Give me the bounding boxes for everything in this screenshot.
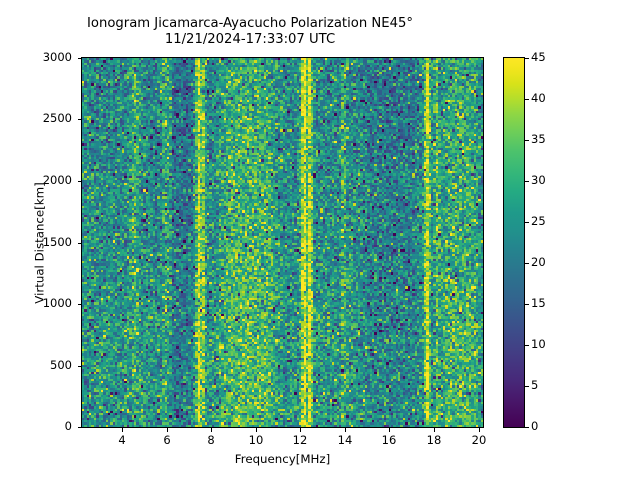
y-tick-mark bbox=[78, 243, 82, 244]
page-title: Ionogram Jicamarca-Ayacucho Polarization… bbox=[0, 16, 500, 48]
colorbar-tick-label-10: 10 bbox=[531, 337, 546, 351]
colorbar-tick-mark bbox=[525, 263, 529, 264]
x-tick-label-16: 16 bbox=[369, 433, 409, 447]
x-tick-label-18: 18 bbox=[414, 433, 454, 447]
colorbar-tick-mark bbox=[525, 181, 529, 182]
x-tick-mark bbox=[167, 428, 168, 432]
y-tick-mark bbox=[78, 181, 82, 182]
colorbar-tick-mark bbox=[525, 345, 529, 346]
colorbar-tick-mark bbox=[525, 427, 529, 428]
x-tick-label-20: 20 bbox=[459, 433, 499, 447]
x-tick-label-14: 14 bbox=[325, 433, 365, 447]
colorbar-tick-label-40: 40 bbox=[531, 91, 546, 105]
colorbar-tick-mark bbox=[525, 99, 529, 100]
x-tick-mark bbox=[256, 428, 257, 432]
x-tick-label-6: 6 bbox=[147, 433, 187, 447]
x-tick-label-4: 4 bbox=[102, 433, 142, 447]
colorbar-tick-label-0: 0 bbox=[531, 419, 538, 433]
colorbar-tick-mark bbox=[525, 140, 529, 141]
x-tick-mark bbox=[122, 428, 123, 432]
y-tick-mark bbox=[78, 304, 82, 305]
ionogram-heatmap bbox=[82, 58, 483, 427]
colorbar-tick-mark bbox=[525, 222, 529, 223]
colorbar-tick-label-25: 25 bbox=[531, 214, 546, 228]
x-tick-mark bbox=[479, 428, 480, 432]
y-axis-label: Virtual Distance[km] bbox=[33, 58, 47, 429]
y-tick-mark bbox=[78, 366, 82, 367]
colorbar-tick-label-20: 20 bbox=[531, 255, 546, 269]
ionogram-plot-area[interactable] bbox=[81, 57, 484, 428]
y-tick-mark bbox=[78, 119, 82, 120]
y-tick-mark bbox=[78, 427, 82, 428]
colorbar-tick-label-30: 30 bbox=[531, 173, 546, 187]
power-colorbar[interactable] bbox=[503, 57, 525, 428]
x-tick-mark bbox=[300, 428, 301, 432]
x-tick-mark bbox=[434, 428, 435, 432]
colorbar-tick-mark bbox=[525, 386, 529, 387]
colorbar-tick-label-15: 15 bbox=[531, 296, 546, 310]
colorbar-tick-label-35: 35 bbox=[531, 132, 546, 146]
colorbar-tick-mark bbox=[525, 58, 529, 59]
x-tick-mark bbox=[211, 428, 212, 432]
x-tick-mark bbox=[345, 428, 346, 432]
x-axis-label: Frequency[MHz] bbox=[81, 452, 484, 466]
colorbar-tick-label-5: 5 bbox=[531, 378, 538, 392]
x-tick-label-12: 12 bbox=[280, 433, 320, 447]
x-tick-label-10: 10 bbox=[236, 433, 276, 447]
ionogram-figure: Ionogram Jicamarca-Ayacucho Polarization… bbox=[0, 0, 640, 480]
y-tick-mark bbox=[78, 58, 82, 59]
colorbar-tick-mark bbox=[525, 304, 529, 305]
x-tick-label-8: 8 bbox=[191, 433, 231, 447]
x-tick-mark bbox=[389, 428, 390, 432]
colorbar-tick-label-45: 45 bbox=[531, 50, 546, 64]
